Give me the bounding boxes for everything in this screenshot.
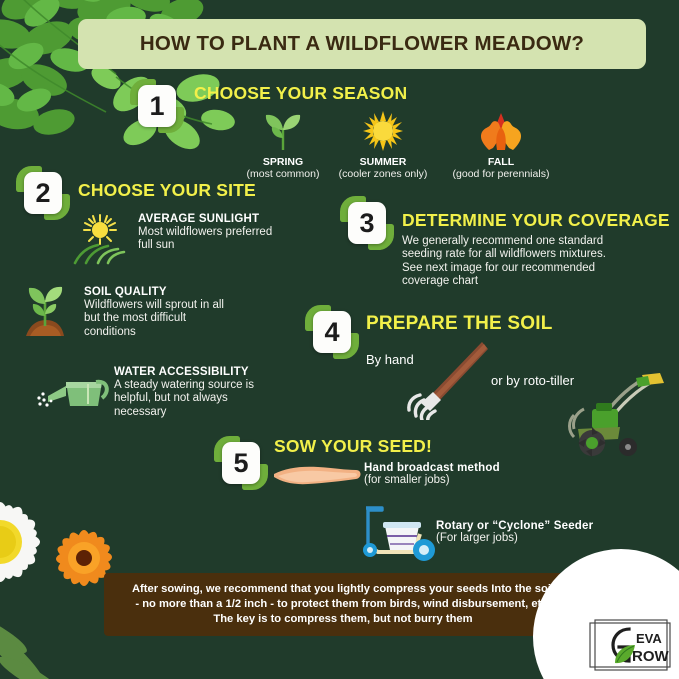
- badge-box: 4: [313, 311, 351, 353]
- step-number: 5: [233, 450, 248, 477]
- feature-line: helpful, but not always: [114, 392, 286, 405]
- badge-box: 5: [222, 442, 260, 484]
- rake-icon: [400, 340, 490, 420]
- feature-line: full sun: [138, 239, 302, 252]
- title-banner: HOW TO PLANT A WILDFLOWER MEADOW?: [78, 19, 646, 69]
- watering-can-icon: [36, 370, 110, 416]
- feature-line: Wildflowers will sprout in all: [84, 299, 256, 312]
- infographic-canvas: HOW TO PLANT A WILDFLOWER MEADOW? 1 CHOO…: [0, 0, 679, 679]
- step-heading-3: DETERMINE YOUR COVERAGE: [402, 210, 670, 231]
- feature-water-accessibility: WATER ACCESSIBILITY A steady watering so…: [36, 366, 286, 419]
- step-3-body: We generally recommend one standard seed…: [402, 235, 672, 289]
- method-note: (for smaller jobs): [364, 474, 500, 487]
- step-badge-5: 5: [214, 436, 268, 490]
- page-title: HOW TO PLANT A WILDFLOWER MEADOW?: [140, 32, 584, 56]
- body-line: See next image for our recommended: [402, 262, 672, 275]
- step-number: 4: [324, 319, 339, 346]
- feature-line: necessary: [114, 406, 286, 419]
- logo-word-top: EVA: [636, 631, 662, 646]
- body-line: We generally recommend one standard: [402, 235, 672, 248]
- badge-box: 3: [348, 202, 386, 244]
- badge-box: 2: [24, 172, 62, 214]
- feature-title: AVERAGE SUNLIGHT: [138, 213, 302, 225]
- footer-line: - no more than a 1/2 inch - to protect t…: [135, 597, 550, 612]
- g-leaf-logo-icon: EVA ROW: [589, 619, 673, 671]
- logo-word-bottom: ROW: [632, 648, 670, 665]
- step-badge-2: 2: [16, 166, 70, 220]
- body-line: coverage chart: [402, 275, 672, 288]
- step-number: 3: [359, 210, 374, 237]
- sun-over-field-icon: [72, 213, 128, 265]
- feature-line: Most wildflowers preferred: [138, 226, 302, 239]
- feature-title: WATER ACCESSIBILITY: [114, 366, 286, 378]
- feature-line: conditions: [84, 326, 256, 339]
- step-number: 1: [149, 93, 164, 120]
- feature-line: A steady watering source is: [114, 379, 286, 392]
- method-note: (For larger jobs): [436, 532, 593, 545]
- step-heading-4: PREPARE THE SOIL: [366, 313, 553, 335]
- step-badge-4: 4: [305, 305, 359, 359]
- season-fall: FALL (good for perennials): [441, 110, 561, 180]
- step-heading-1: CHOOSE YOUR SEASON: [194, 83, 407, 104]
- body-line: seeding rate for all wildflowers mixture…: [402, 248, 672, 261]
- footer-line: The key is to compress them, but not bur…: [213, 612, 472, 627]
- badge-box: 1: [138, 85, 176, 127]
- open-hand-icon: [272, 458, 364, 494]
- step-badge-3: 3: [340, 196, 394, 250]
- step-heading-2: CHOOSE YOUR SITE: [78, 180, 256, 201]
- feature-line: but the most difficult: [84, 312, 256, 325]
- eva-grow-logo: EVA ROW: [589, 619, 673, 671]
- season-summer: SUMMER (cooler zones only): [323, 110, 443, 180]
- flowers-decoration-icon: [0, 440, 186, 679]
- footer-note-box: After sowing, we recommend that you ligh…: [104, 573, 582, 636]
- feature-average-sunlight: AVERAGE SUNLIGHT Most wildflowers prefer…: [72, 213, 302, 253]
- feature-soil-quality: SOIL QUALITY Wildflowers will sprout in …: [16, 286, 256, 339]
- footer-line: After sowing, we recommend that you ligh…: [132, 582, 554, 597]
- season-name: SUMMER: [323, 156, 443, 168]
- sprout-in-soil-icon: [16, 280, 74, 340]
- feature-title: SOIL QUALITY: [84, 286, 256, 298]
- season-note: (cooler zones only): [323, 168, 443, 180]
- method-rotary-seeder: Rotary or “Cyclone” Seeder (For larger j…: [436, 520, 593, 545]
- sun-icon: [323, 110, 443, 152]
- method-hand-broadcast: Hand broadcast method (for smaller jobs): [364, 462, 500, 487]
- method-title: Hand broadcast method: [364, 462, 500, 474]
- method-title: Rotary or “Cyclone” Seeder: [436, 520, 593, 532]
- step-number: 2: [35, 180, 50, 207]
- step-heading-5: SOW YOUR SEED!: [274, 436, 432, 457]
- season-name: FALL: [441, 156, 561, 168]
- step-badge-1: 1: [130, 79, 184, 133]
- season-note: (good for perennials): [441, 168, 561, 180]
- roto-tiller-icon: [548, 365, 672, 460]
- rotary-spreader-icon: [352, 500, 448, 562]
- maple-leaves-icon: [441, 110, 561, 152]
